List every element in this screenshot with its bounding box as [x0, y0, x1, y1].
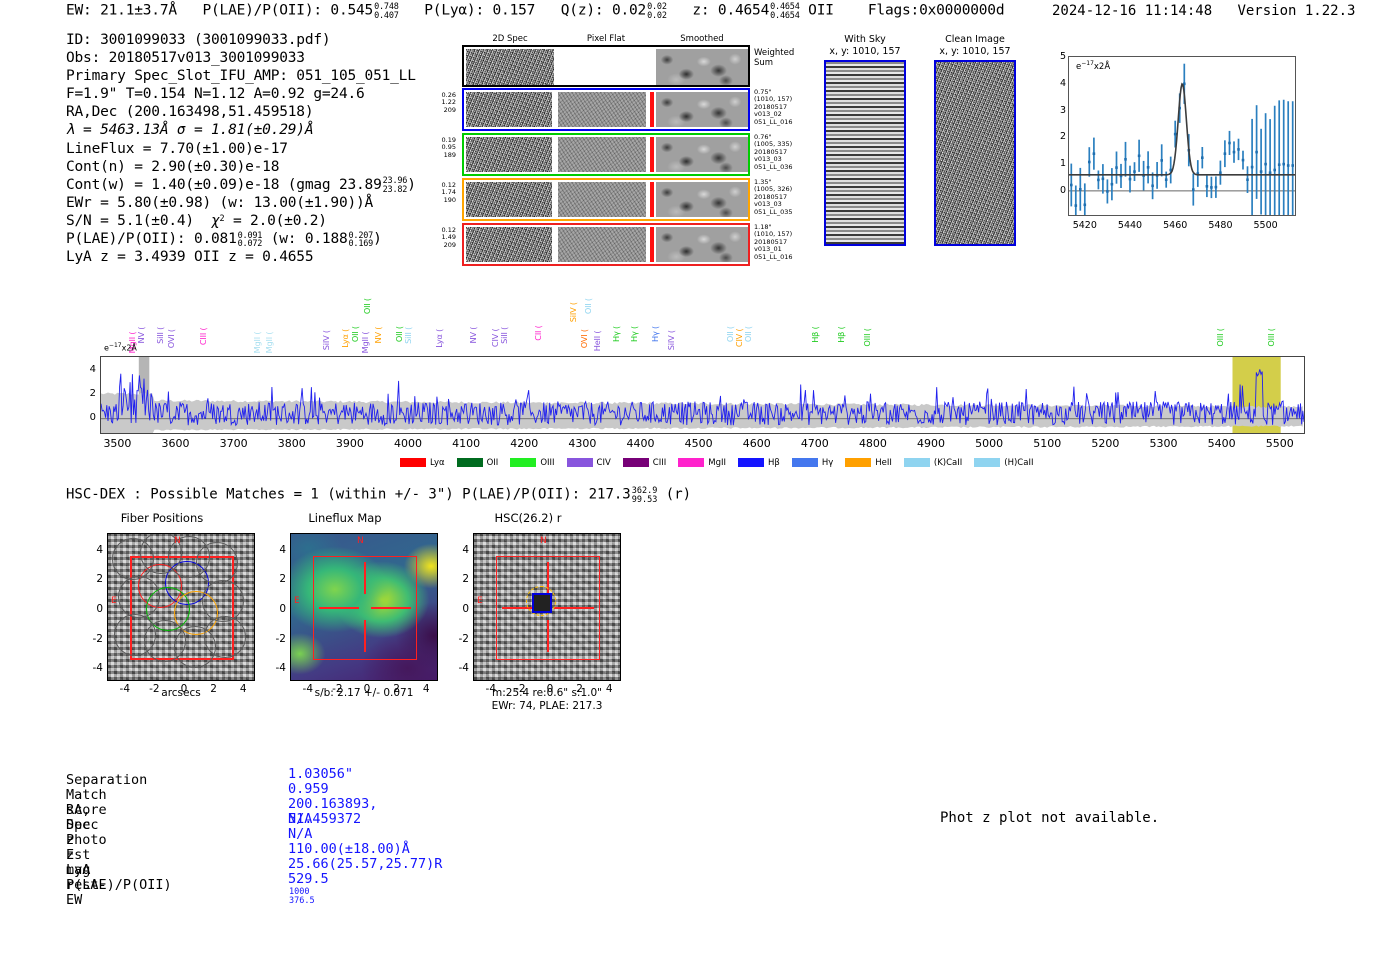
fiber-left-stats: 0.261.22209: [422, 92, 456, 114]
legend-label: Hγ: [822, 458, 833, 468]
legend-swatch: [792, 458, 818, 467]
header-z-range: 0.46540.4654: [770, 3, 800, 20]
spectral-line-label: SiIV (: [568, 302, 578, 322]
legend-swatch: [457, 458, 483, 467]
fiber-meta: 051_LL_016: [754, 254, 814, 261]
fullspec-x-tick: 3700: [210, 437, 258, 450]
hscdex-text: HSC-DEX : Possible Matches = 1 (within +…: [66, 487, 631, 503]
legend-label: OII: [487, 458, 499, 468]
match-table-value: 25.66(25.57,25.77)R: [288, 857, 442, 872]
info-plae-a-range: 0.0910.072: [238, 232, 263, 249]
clean-image-caption: Clean Image x, y: 1010, 157: [930, 34, 1020, 57]
legend-label: HeII: [875, 458, 892, 468]
header-ew: EW: 21.1±3.7Å: [66, 3, 177, 19]
spectral-line-label: OII (: [362, 298, 372, 314]
info-cont-n: Cont(n) = 2.90(±0.30)e-18: [66, 158, 416, 176]
fiber-pixelflat-image: [558, 92, 646, 127]
cutout-y-tick: 0: [262, 603, 286, 615]
clean-image-title: Clean Image: [930, 34, 1020, 46]
fullspec-x-tick: 4100: [442, 437, 490, 450]
spectral-line-label: OIII (: [862, 328, 872, 346]
info-obs: Obs: 20180517v013_3001099033: [66, 49, 416, 67]
spec2d-fiber-row[interactable]: [462, 88, 750, 131]
spectral-line-label: OII (: [743, 326, 753, 342]
spectral-line-label: SiII (: [403, 327, 413, 344]
hsc-source-marker: [532, 593, 552, 613]
fiber-pixelflat-image: [558, 137, 646, 172]
lineflux-crosshair-bottom: [364, 620, 366, 652]
legend-swatch: [510, 458, 536, 467]
info-chi2-sym: χ: [211, 213, 220, 229]
photz-note: Phot z plot not available.: [940, 810, 1159, 826]
zoom-y-tick: 4: [1052, 78, 1066, 89]
fullspec-x-tick: 4400: [616, 437, 664, 450]
fullspec-x-tick: 5500: [1256, 437, 1304, 450]
hsc-r-compass-e: E: [477, 596, 483, 606]
fiber-positions-image[interactable]: N E: [107, 533, 255, 681]
legend-swatch: [623, 458, 649, 467]
fullspec-x-tick: 4900: [907, 437, 955, 450]
cutout-y-tick: -4: [79, 662, 103, 674]
zoom-x-tick: 5440: [1114, 220, 1146, 231]
fullspec-x-tick: 3900: [326, 437, 374, 450]
clean-image-image[interactable]: [934, 60, 1016, 246]
legend-label: Hβ: [768, 458, 780, 468]
hsc-r-compass-n: N: [540, 536, 547, 546]
info-seeing: F=1.9" T=0.154 N=1.12 A=0.92 g=24.6: [66, 85, 416, 103]
cutout-x-tick: -2: [142, 683, 166, 695]
weighted-sum-label: Weighted Sum: [754, 48, 794, 68]
info-id: ID: 3001099033 (3001099033.pdf): [66, 31, 416, 49]
with-sky-caption: With Sky x, y: 1010, 157: [820, 34, 910, 57]
header-plae-range: 0.7480.407: [374, 3, 399, 20]
detection-info-block: ID: 3001099033 (3001099033.pdf) Obs: 201…: [66, 31, 416, 266]
fiber-right-meta: 0.75"(1010, 157)20180517v013_02051_LL_01…: [754, 89, 814, 126]
info-sn: S/N = 5.1(±0.4): [66, 213, 194, 229]
timestamp-value: 2024-12-16 11:14:48: [1052, 3, 1212, 19]
legend-swatch: [738, 458, 764, 467]
fullspec-x-tick: 4300: [558, 437, 606, 450]
spec2d-weighted-sum-row: [462, 45, 750, 87]
fullspec-x-tick: 5100: [1023, 437, 1071, 450]
spectral-line-label: MgII (: [252, 332, 262, 354]
info-ewr: EWr = 5.80(±0.98) (w: 13.00(±1.90))Å: [66, 194, 416, 212]
legend-label: CIII: [653, 458, 666, 468]
with-sky-title: With Sky: [820, 34, 910, 46]
info-plae-a: P(LAE)/P(OII): 0.081: [66, 231, 237, 247]
spectral-line-label: MgII (: [264, 332, 274, 354]
spectral-line-label: Hγ (: [611, 326, 621, 342]
fullspec-y-tick: 0: [84, 412, 96, 423]
match-plae-range: 1000376.5: [289, 888, 315, 905]
match-table-value: 0.959: [288, 782, 329, 797]
match-table-key: P(LAE)/P(OII): [66, 878, 172, 893]
fiber-2dspec-image: [466, 137, 552, 172]
fullspec-x-tick: 3800: [268, 437, 316, 450]
fullspec-x-tick: 5200: [1081, 437, 1129, 450]
full-spectrum-flux-units: e−17x2Å: [104, 342, 137, 353]
header-plae-label: P(LAE)/P(OII): 0.545: [202, 3, 373, 19]
zoom-x-tick: 5420: [1069, 220, 1101, 231]
legend-label: MgII: [708, 458, 726, 468]
zoom-y-tick: 1: [1052, 158, 1066, 169]
cutout-x-tick: 2: [202, 683, 226, 695]
info-cont-w-text: Cont(w) = 1.40(±0.09)e-18 (gmag 23.89: [66, 177, 382, 193]
hscdex-suffix: (r): [666, 487, 691, 503]
cutout-y-tick: 2: [445, 573, 469, 585]
spectral-line-label: CII (: [533, 325, 543, 340]
spectral-line-label: OIII (: [1215, 328, 1225, 346]
fiber-circle-grey-10: [204, 616, 246, 658]
fiber-positions-compass-e: E: [111, 596, 117, 606]
cutout-y-tick: -2: [79, 633, 103, 645]
fullspec-y-tick: 2: [84, 388, 96, 399]
fullspec-x-tick: 4000: [384, 437, 432, 450]
cutout-x-tick: 0: [538, 683, 562, 695]
fiber-smoothed-image: [656, 92, 748, 127]
fullspec-x-tick: 3600: [152, 437, 200, 450]
cutout-x-tick: 0: [355, 683, 379, 695]
info-radec: RA,Dec (200.163498,51.459518): [66, 103, 416, 121]
cutout-y-tick: 4: [79, 544, 103, 556]
cutout-x-tick: 2: [568, 683, 592, 695]
hscdex-match-line: HSC-DEX : Possible Matches = 1 (within +…: [66, 486, 691, 503]
match-table-value: 1.03056": [288, 767, 353, 782]
spec2d-col-title-2dspec: 2D Spec: [462, 34, 558, 44]
fiber-smoothed-image: [656, 182, 748, 217]
spec2d-fiber-row[interactable]: [462, 178, 750, 221]
fullspec-x-tick: 4700: [791, 437, 839, 450]
cutout-y-tick: 4: [445, 544, 469, 556]
lineflux-map-compass-e: E: [294, 596, 300, 606]
cutout-x-tick: -2: [508, 683, 532, 695]
lineflux-crosshair-right: [371, 607, 411, 609]
hsc-r-caption2: EWr: 74, PLAE: 217.3: [443, 700, 651, 712]
spectral-line-label: NV (: [136, 327, 146, 344]
spectral-line-label: SiII (: [155, 327, 165, 344]
lineflux-map-compass-n: N: [357, 536, 364, 546]
fiber-stat: 209: [422, 242, 456, 249]
match-table-key: mag: [66, 863, 90, 878]
info-plae-b: (w: 0.188: [271, 231, 348, 247]
spectral-line-label: OIII (: [1266, 328, 1276, 346]
cutout-x-tick: 4: [231, 683, 255, 695]
fiber-smoothed-image: [656, 227, 748, 262]
fullspec-x-tick: 4200: [500, 437, 548, 450]
spec2d-fiber-row[interactable]: [462, 133, 750, 176]
cutout-x-tick: -4: [296, 683, 320, 695]
legend-swatch: [974, 458, 1000, 467]
spectral-line-label: OVI (: [579, 329, 589, 348]
zoom-y-tick: 0: [1052, 185, 1066, 196]
info-cont-w: Cont(w) = 1.40(±0.09)e-18 (gmag 23.8923.…: [66, 176, 416, 194]
spectral-line-label: SiIV (: [666, 330, 676, 350]
match-table-value: 529.51000376.5: [288, 872, 329, 904]
legend-label: Lyα: [430, 458, 445, 468]
legend-label: (K)CaII: [934, 458, 962, 468]
spectral-line-label: Hβ (: [836, 326, 846, 342]
cutout-y-tick: -4: [262, 662, 286, 674]
fiber-right-meta: 0.76"(1005, 335)20180517v013_03051_LL_03…: [754, 134, 814, 171]
cutout-y-tick: 2: [79, 573, 103, 585]
spec2d-col-title-smoothed: Smoothed: [654, 34, 750, 44]
spectral-line-label: HeII (: [592, 331, 602, 352]
full-spectrum-svg: [101, 357, 1304, 433]
weighted-sum-label-line1: Weighted: [754, 48, 794, 58]
info-lineflux: LineFlux = 7.70(±1.00)e-17: [66, 140, 416, 158]
fiber-meta: 051_LL_036: [754, 164, 814, 171]
weighted-sum-smoothed-image: [656, 49, 748, 85]
spectral-line-label: OII (: [583, 298, 593, 314]
header-z-species: OII: [808, 3, 834, 19]
fiber-2dspec-image: [466, 92, 552, 127]
cutout-x-tick: 4: [597, 683, 621, 695]
hscdex-plae-range: 362.999.53: [632, 487, 658, 504]
zoom-y-tick: 2: [1052, 131, 1066, 142]
full-spectrum-axes: [100, 356, 1305, 434]
lineflux-map-title: Lineflux Map: [245, 511, 445, 525]
legend-swatch: [567, 458, 593, 467]
zoom-x-tick: 5460: [1159, 220, 1191, 231]
zoom-plot-svg: [1069, 57, 1295, 215]
header-qz-label: Q(z): 0.02: [561, 3, 646, 19]
fullspec-x-tick: 5300: [1140, 437, 1188, 450]
fiber-stat: 190: [422, 197, 456, 204]
full-spectrum-line-labels: MgII (NV (SiII (OVI (CIII (MgII (MgII (S…: [100, 282, 1310, 356]
hsc-r-image[interactable]: N E: [473, 533, 621, 681]
cutout-y-tick: 0: [79, 603, 103, 615]
spectral-line-label: Hγ (: [629, 326, 639, 342]
legend-label: CIV: [597, 458, 611, 468]
hsc-crosshair-bottom: [547, 620, 549, 652]
fiber-right-meta: 1.18"(1010, 157)20180517v013_01051_LL_01…: [754, 224, 814, 261]
spectral-line-label: MgII (: [360, 332, 370, 354]
cutout-x-tick: 0: [172, 683, 196, 695]
fiber-stat: 189: [422, 152, 456, 159]
version-value: Version 1.22.3: [1237, 3, 1355, 19]
info-lambda-sigma: λ = 5463.13Å σ = 1.81(±0.29)Å: [66, 121, 416, 139]
info-cont-w-close: ): [407, 177, 416, 193]
cutout-y-tick: -4: [445, 662, 469, 674]
cutout-x-tick: -2: [325, 683, 349, 695]
cutout-x-tick: -4: [479, 683, 503, 695]
info-plae-b-range: 0.2070.169: [349, 232, 374, 249]
fiber-stat: 209: [422, 107, 456, 114]
zoom-x-tick: 5480: [1204, 220, 1236, 231]
spectral-line-label: NV (: [468, 327, 478, 344]
full-spectrum-legend: LyαOIIOIIICIVCIIIMgIIHβHγHeII(K)CaII(H)C…: [400, 452, 1045, 471]
spectral-line-label: SiII (: [499, 327, 509, 344]
spectral-line-label: OII (: [350, 326, 360, 342]
weighted-sum-label-line2: Sum: [754, 58, 794, 68]
spectral-line-label: NV (: [373, 327, 383, 344]
fiber-positions-title: Fiber Positions: [62, 511, 262, 525]
weighted-sum-2dspec-image: [466, 49, 554, 85]
fiber-2dspec-image: [466, 182, 552, 217]
spectral-line-label: Hβ (: [810, 326, 820, 342]
spec2d-fiber-row[interactable]: [462, 223, 750, 266]
match-table-key: Separation: [66, 773, 147, 788]
with-sky-coords: x, y: 1010, 157: [820, 46, 910, 58]
fiber-pixelflat-image: [558, 182, 646, 217]
lineflux-crosshair-top: [364, 562, 366, 594]
spectral-line-label: SiIV (: [321, 330, 331, 350]
fullspec-x-tick: 4600: [733, 437, 781, 450]
cutout-x-tick: 4: [414, 683, 438, 695]
fiber-meta: 051_LL_035: [754, 209, 814, 216]
zoom-plot-flux-units: e−17x2Å: [1076, 60, 1110, 72]
zoom-x-tick: 5500: [1250, 220, 1282, 231]
cutout-y-tick: -2: [445, 633, 469, 645]
fullspec-y-tick: 4: [84, 364, 96, 375]
fiber-left-stats: 0.190.95189: [422, 137, 456, 159]
fiber-2dspec-image: [466, 227, 552, 262]
fullspec-x-tick: 4800: [849, 437, 897, 450]
timestamp-version: 2024-12-16 11:14:48 Version 1.22.3: [1052, 3, 1355, 19]
spectral-line-label: CIII (: [198, 328, 208, 346]
fullspec-x-tick: 5400: [1198, 437, 1246, 450]
with-sky-image[interactable]: [824, 60, 906, 246]
spectral-line-label: Lyα (: [340, 329, 350, 348]
cutout-y-tick: 0: [445, 603, 469, 615]
fiber-positions-compass-n: N: [174, 536, 181, 546]
legend-swatch: [845, 458, 871, 467]
legend-label: (H)CaII: [1004, 458, 1033, 468]
fiber-pixelflat-image: [558, 227, 646, 262]
fiber-wavelength-marker: [650, 137, 654, 172]
info-sn-chi2: S/N = 5.1(±0.4) χ2 = 2.0(±0.2): [66, 212, 416, 230]
cutout-y-tick: 4: [262, 544, 286, 556]
info-plae-close: ): [373, 231, 382, 247]
spectral-line-label: Hγ (: [650, 326, 660, 342]
hsc-crosshair-right: [554, 607, 594, 609]
lineflux-map-image[interactable]: N E: [290, 533, 438, 681]
header-qz-range: 0.020.02: [647, 3, 667, 20]
full-spectrum-plot[interactable]: MgII (NV (SiII (OVI (CIII (MgII (MgII (S…: [100, 282, 1310, 472]
spectral-line-label: OVI (: [166, 329, 176, 348]
info-gmag-range: 23.9623.82: [383, 177, 408, 194]
fiber-circle-grey-5: [118, 576, 160, 618]
lineflux-crosshair-left: [319, 607, 359, 609]
info-redshifts: LyA z = 3.4939 OII z = 0.4655: [66, 248, 416, 266]
fiber-wavelength-marker: [650, 92, 654, 127]
cutout-y-tick: -2: [262, 633, 286, 645]
fullspec-x-tick: 4500: [675, 437, 723, 450]
fiber-circle-grey-4: [196, 542, 238, 584]
info-primary-amp: Primary Spec_Slot_IFU_AMP: 051_105_051_L…: [66, 67, 416, 85]
fullspec-x-tick: 3500: [93, 437, 141, 450]
zoom-plot-axes: [1068, 56, 1296, 216]
fiber-left-stats: 0.121.74190: [422, 182, 456, 204]
fiber-wavelength-marker: [650, 227, 654, 262]
legend-swatch: [678, 458, 704, 467]
fullspec-x-tick: 5000: [965, 437, 1013, 450]
fiber-right-meta: 1.35"(1005, 326)20180517v013_03051_LL_03…: [754, 179, 814, 216]
legend-swatch: [400, 458, 426, 467]
header-z-label: z: 0.4654: [692, 3, 769, 19]
info-plae-line: P(LAE)/P(OII): 0.0810.0910.072 (w: 0.188…: [66, 230, 416, 248]
spectral-line-label: Lyα (: [434, 329, 444, 348]
match-table-value: 110.00(±18.00)Å: [288, 842, 410, 857]
info-chi2-val: = 2.0(±0.2): [224, 213, 326, 229]
zoom-y-tick: 3: [1052, 105, 1066, 116]
fiber-left-stats: 0.121.49209: [422, 227, 456, 249]
legend-swatch: [904, 458, 930, 467]
hsc-r-title: HSC(26.2) r: [428, 511, 628, 525]
info-lambda-text: λ = 5463.13Å σ = 1.81(±0.29)Å: [66, 122, 313, 138]
match-table-value: N/A: [288, 812, 312, 827]
fiber-meta: 051_LL_016: [754, 119, 814, 126]
fiber-wavelength-marker: [650, 182, 654, 217]
header-flags: Flags:0x0000000d: [868, 3, 1004, 19]
legend-label: OIII: [540, 458, 554, 468]
clean-image-coords: x, y: 1010, 157: [930, 46, 1020, 58]
match-table-value: N/A: [288, 827, 312, 842]
header-summary-line: EW: 21.1±3.7Å P(LAE)/P(OII): 0.5450.7480…: [66, 2, 1004, 19]
zoomed-emission-line-plot[interactable]: e−17x2Å 012345 54205440546054805500: [1036, 50, 1308, 250]
fiber-smoothed-image: [656, 137, 748, 172]
cutout-x-tick: -4: [113, 683, 137, 695]
cutout-x-tick: 2: [385, 683, 409, 695]
zoom-y-tick: 5: [1052, 51, 1066, 62]
header-plya: P(Lyα): 0.157: [424, 3, 535, 19]
spec2d-col-title-pixelflat: Pixel Flat: [558, 34, 654, 44]
cutout-y-tick: 2: [262, 573, 286, 585]
